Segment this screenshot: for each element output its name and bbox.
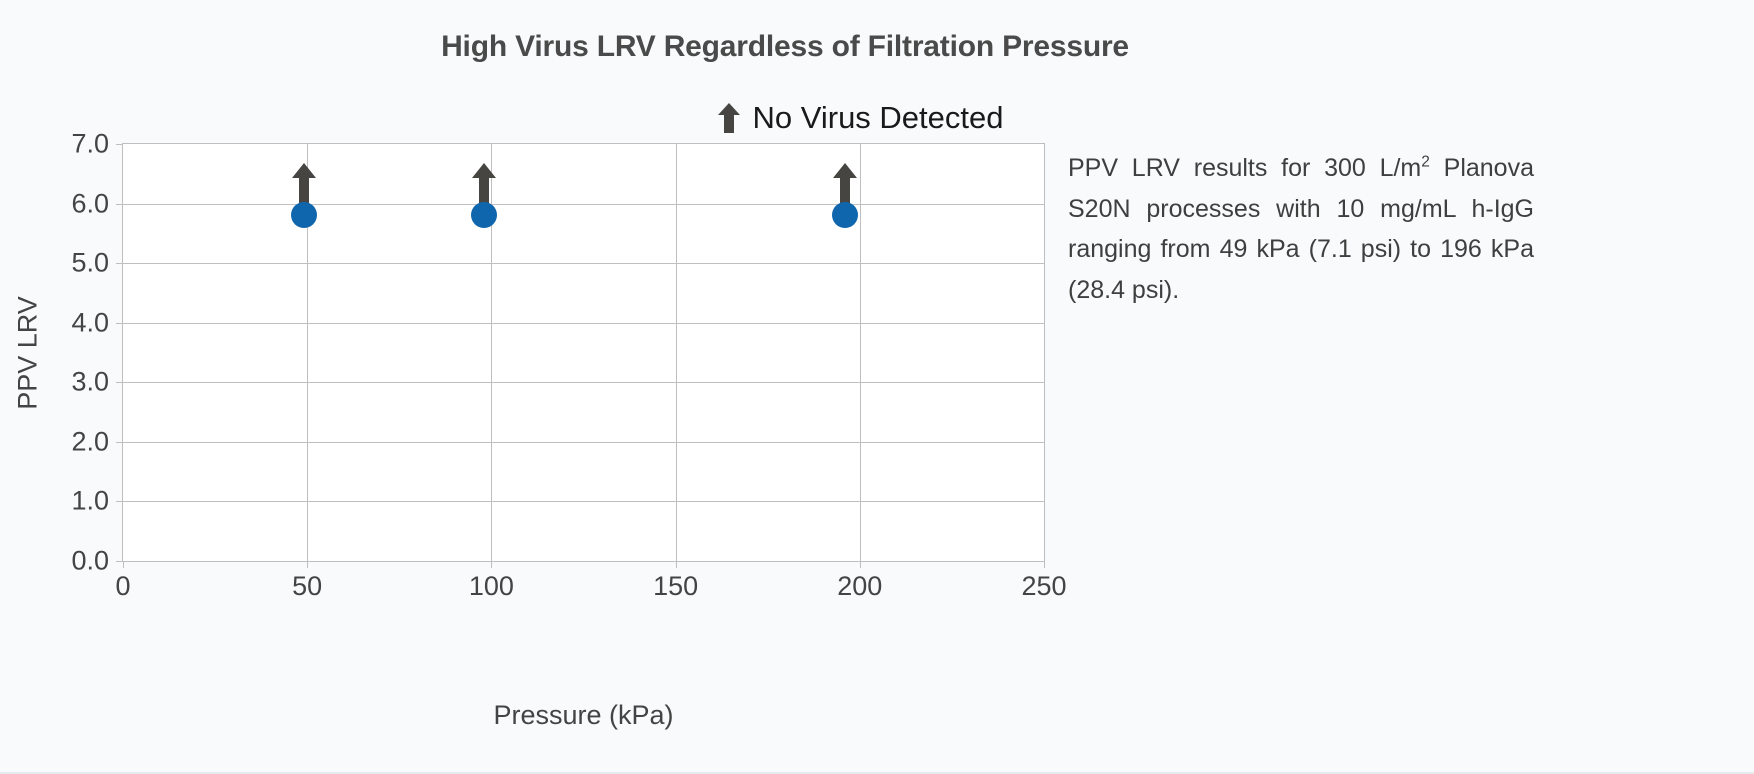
y-axis-tick-label: 5.0: [71, 248, 109, 279]
y-axis-tick-label: 1.0: [71, 486, 109, 517]
x-axis-tick: [676, 561, 677, 568]
figure-caption: PPV LRV results for 300 L/m2 Planova S20…: [1068, 148, 1534, 310]
y-axis-tick-label: 4.0: [71, 307, 109, 338]
y-axis-tick: [116, 263, 123, 264]
gridline-vertical: [676, 144, 677, 561]
y-axis-tick: [116, 204, 123, 205]
plot-area: 0.01.02.03.04.05.06.07.0050100150200250: [122, 143, 1045, 562]
y-axis-tick-label: 7.0: [71, 129, 109, 160]
y-axis-tick: [116, 382, 123, 383]
data-point-marker[interactable]: [832, 202, 858, 228]
x-axis-tick-label: 150: [653, 571, 698, 602]
gridline-horizontal: [123, 501, 1044, 502]
y-axis-tick-label: 3.0: [71, 367, 109, 398]
y-axis-tick: [116, 323, 123, 324]
x-axis-tick-label: 200: [837, 571, 882, 602]
y-axis-tick-label: 6.0: [71, 188, 109, 219]
y-axis-tick-label: 2.0: [71, 426, 109, 457]
x-axis-title: Pressure (kPa): [122, 700, 1045, 731]
data-point-marker[interactable]: [291, 202, 317, 228]
plot-wrapper: PPV LRV 0.01.02.03.04.05.06.07.005010015…: [0, 0, 1060, 772]
gridline-horizontal: [123, 263, 1044, 264]
data-point-marker[interactable]: [471, 202, 497, 228]
gridline-horizontal: [123, 382, 1044, 383]
y-axis-tick: [116, 442, 123, 443]
y-axis-tick: [116, 501, 123, 502]
x-axis-tick-label: 250: [1021, 571, 1066, 602]
caption-part-1: PPV LRV results for 300 L/m: [1068, 154, 1421, 182]
gridline-horizontal: [123, 442, 1044, 443]
x-axis-tick: [491, 561, 492, 568]
x-axis-tick: [123, 561, 124, 568]
y-axis-tick: [116, 144, 123, 145]
up-arrow-icon: [832, 163, 858, 205]
y-axis-title: PPV LRV: [13, 296, 44, 410]
gridline-horizontal: [123, 204, 1044, 205]
figure-container: High Virus LRV Regardless of Filtration …: [0, 0, 1754, 774]
caption-superscript: 2: [1421, 154, 1430, 171]
up-arrow-icon: [291, 163, 317, 205]
up-arrow-icon: [471, 163, 497, 205]
y-axis-tick: [116, 561, 123, 562]
x-axis-tick-label: 50: [292, 571, 322, 602]
x-axis-tick: [307, 561, 308, 568]
gridline-vertical: [860, 144, 861, 561]
x-axis-tick-label: 0: [115, 571, 130, 602]
x-axis-tick-label: 100: [469, 571, 514, 602]
x-axis-tick: [1044, 561, 1045, 568]
gridline-horizontal: [123, 323, 1044, 324]
x-axis-tick: [860, 561, 861, 568]
y-axis-tick-label: 0.0: [71, 546, 109, 577]
